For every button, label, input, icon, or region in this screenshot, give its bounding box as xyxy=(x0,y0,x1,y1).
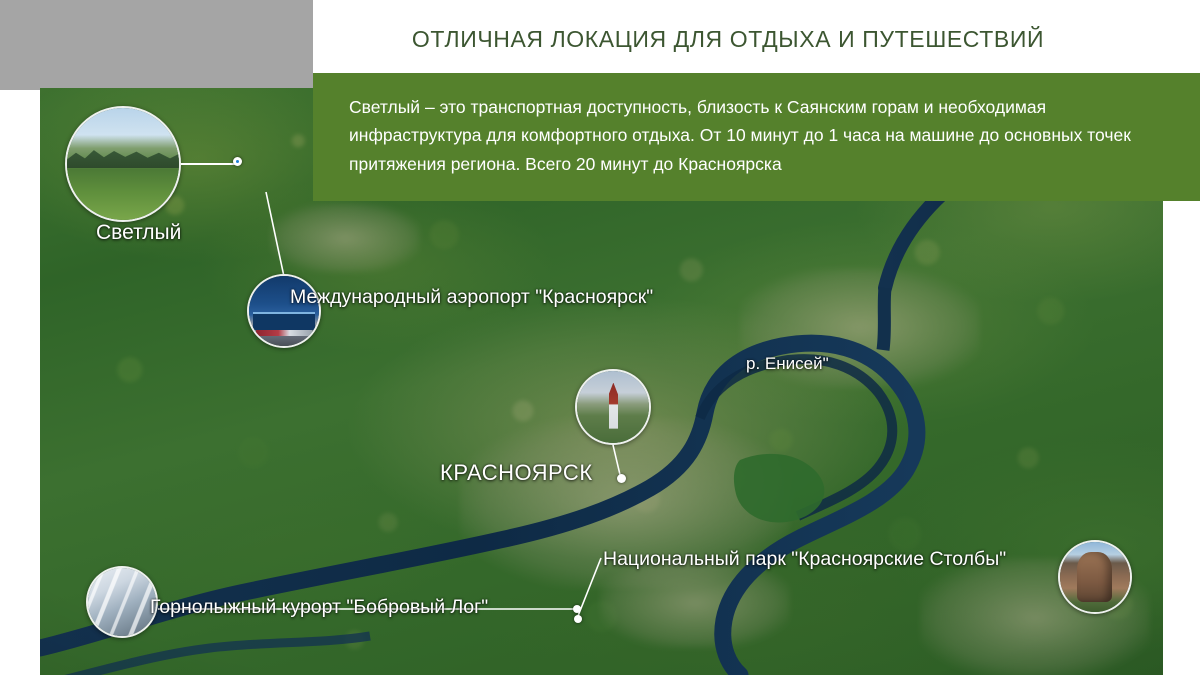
page-title: ОТЛИЧНАЯ ЛОКАЦИЯ ДЛЯ ОТДЫХА И ПУТЕШЕСТВИ… xyxy=(313,26,1143,53)
stolby-photo-bubble[interactable] xyxy=(1058,540,1132,614)
krasnoyarsk-map-pin[interactable] xyxy=(617,474,626,483)
svetly-label: Светлый xyxy=(96,221,181,245)
krasnoyarsk-label: КРАСНОЯРСК xyxy=(440,460,593,486)
decorative-gray-block xyxy=(0,0,313,90)
airport-leader-line xyxy=(200,178,320,288)
svetly-map-pin[interactable] xyxy=(233,157,242,166)
krasnoyarsk-photo-bubble[interactable] xyxy=(575,369,651,445)
info-callout: Светлый – это транспортная доступность, … xyxy=(313,73,1200,201)
bobrovy-log-label: Горнолыжный курорт "Бобровый Лог" xyxy=(150,596,488,619)
chapel-paraskeva-photo xyxy=(577,371,649,443)
info-callout-text: Светлый – это транспортная доступность, … xyxy=(313,73,1168,178)
airport-label: Международный аэропорт "Красноярск" xyxy=(290,286,653,309)
stolby-map-pin[interactable] xyxy=(574,615,582,623)
river-label: р. Енисей" xyxy=(746,354,829,374)
stolby-label: Национальный парк "Красноярские Столбы" xyxy=(603,548,1006,571)
rock-pillars-photo xyxy=(1060,542,1130,612)
